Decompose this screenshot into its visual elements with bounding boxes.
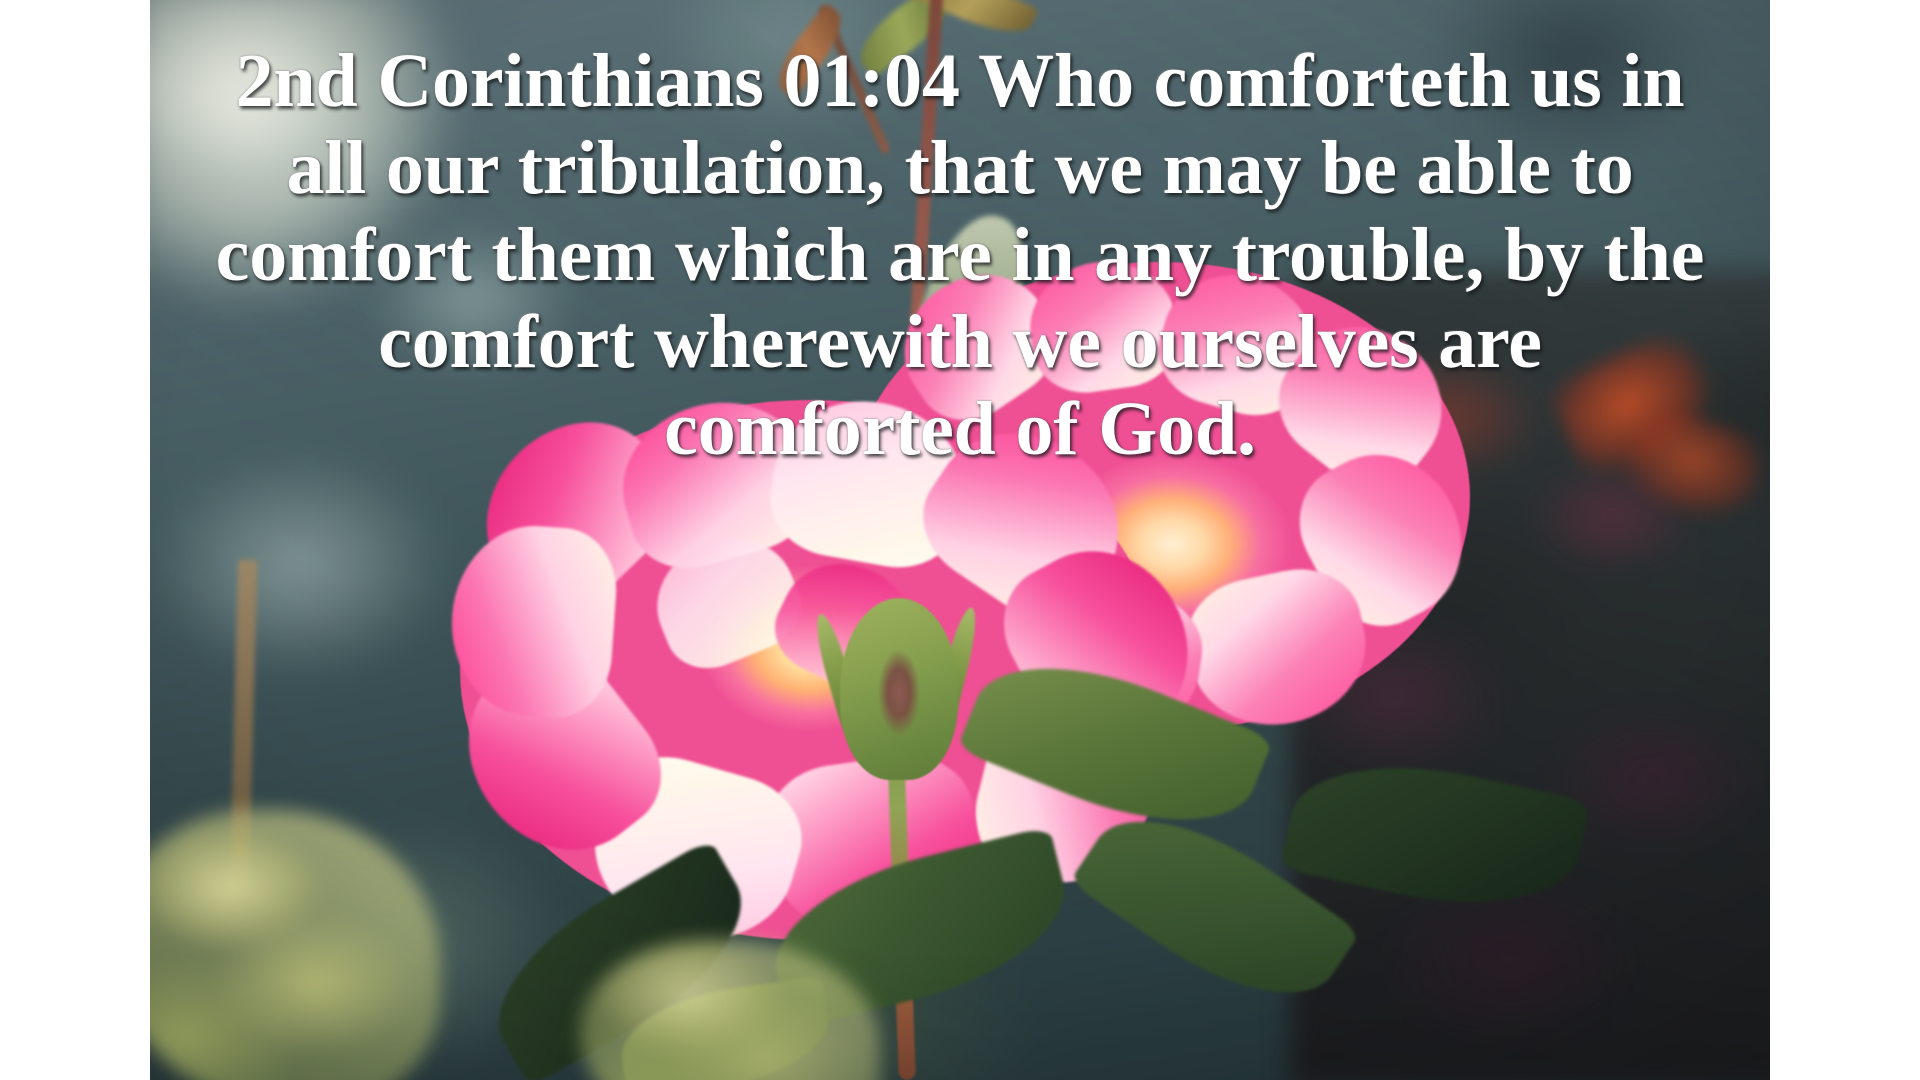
screenshot-canvas: 2nd Corinthians 01:04 Who comforteth us … bbox=[0, 0, 1920, 1080]
letterbox-bar-right bbox=[1770, 0, 1920, 1080]
letterbox-bar-left bbox=[0, 0, 150, 1080]
verse-text-overlay: 2nd Corinthians 01:04 Who comforteth us … bbox=[150, 0, 1770, 473]
verse-text: 2nd Corinthians 01:04 Who comforteth us … bbox=[210, 38, 1710, 473]
rose-bud bbox=[840, 598, 958, 780]
